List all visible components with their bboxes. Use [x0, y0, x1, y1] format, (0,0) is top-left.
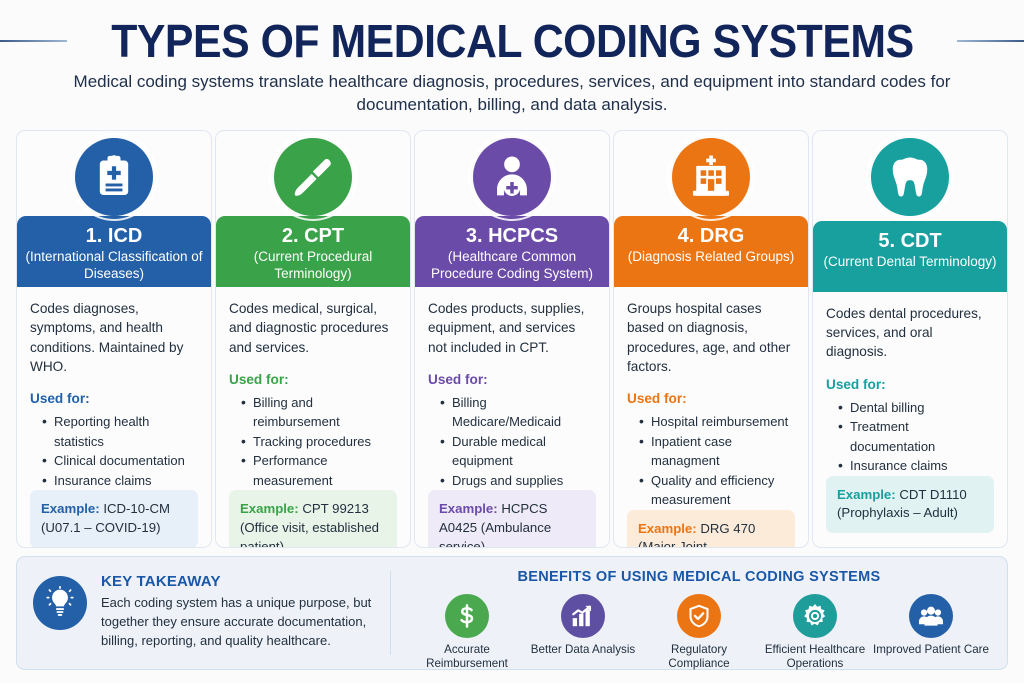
dollar-icon	[445, 594, 489, 638]
list-item: Drugs and supplies	[442, 471, 596, 491]
benefit-label: Accurate Reimbursement	[409, 643, 525, 672]
benefit-label: Efficient Healthcare Operations	[757, 643, 873, 672]
example-label: Example:	[638, 521, 700, 536]
card-body: Codes medical, surgical, and diagnostic …	[216, 287, 410, 548]
list-item: Durable medical equipment	[442, 432, 596, 471]
card-title: 4. DRG	[620, 225, 802, 248]
header-section: TYPES OF MEDICAL CODING SYSTEMS Medical …	[0, 0, 1024, 118]
card-header: 4. DRG (Diagnosis Related Groups)	[614, 216, 808, 287]
card-title: 3. HCPCS	[421, 225, 603, 248]
lightbulb-icon	[33, 576, 87, 630]
coding-system-card: 1. ICD (International Classification of …	[16, 130, 212, 548]
card-subtitle: (Healthcare Common Procedure Coding Syst…	[421, 249, 603, 282]
list-item: Treatment documentation	[840, 417, 994, 456]
used-for-label: Used for:	[627, 391, 795, 406]
card-header: 3. HCPCS (Healthcare Common Procedure Co…	[415, 216, 609, 287]
example-label: Example:	[41, 501, 103, 516]
benefit-item: Accurate Reimbursement	[409, 594, 525, 672]
title-decoration-left	[0, 37, 67, 46]
card-title: 2. CPT	[222, 225, 404, 248]
card-body: Groups hospital cases based on diagnosis…	[614, 287, 808, 548]
benefit-label: Better Data Analysis	[525, 643, 641, 657]
hospital-icon	[672, 138, 750, 216]
card-description: Codes medical, surgical, and diagnostic …	[229, 299, 397, 357]
title-decoration-right	[957, 37, 1024, 46]
benefit-item: Better Data Analysis	[525, 594, 641, 672]
bar-chart-icon	[561, 594, 605, 638]
example-box: Example: CPT 99213 (Office visit, establ…	[229, 490, 397, 548]
card-icon-area	[216, 131, 410, 216]
benefit-label: Regulatory Compliance	[641, 643, 757, 672]
card-subtitle: (Current Procedural Terminology)	[222, 249, 404, 282]
shield-check-icon	[677, 594, 721, 638]
card-subtitle: (International Classification of Disease…	[23, 249, 205, 282]
card-title: 1. ICD	[23, 225, 205, 248]
list-item: Quality and efficiency measurement	[641, 471, 795, 510]
card-description: Groups hospital cases based on diagnosis…	[627, 299, 795, 376]
card-header: 5. CDT (Current Dental Terminology)	[813, 221, 1007, 292]
coding-system-card: 4. DRG (Diagnosis Related Groups) Groups…	[613, 130, 809, 548]
key-takeaway-title: KEY TAKEAWAY	[101, 573, 378, 590]
used-for-list: Reporting health statisticsClinical docu…	[30, 412, 198, 490]
decoration-line-left	[0, 40, 67, 42]
example-box: Example: CDT D1110 (Prophylaxis – Adult)	[826, 476, 994, 533]
list-item: Billing Medicare/Medicaid	[442, 393, 596, 432]
coding-system-card: 3. HCPCS (Healthcare Common Procedure Co…	[414, 130, 610, 548]
benefit-item: Improved Patient Care	[873, 594, 989, 672]
card-icon-area	[415, 131, 609, 216]
list-item: Performance measurement	[243, 451, 397, 490]
patient-plus-icon	[473, 138, 551, 216]
decoration-line-right	[957, 40, 1024, 42]
list-item: Clinical documentation	[44, 451, 198, 471]
benefits-title: BENEFITS OF USING MEDICAL CODING SYSTEMS	[391, 569, 1007, 585]
example-label: Example:	[240, 501, 302, 516]
gear-icon	[793, 594, 837, 638]
list-item: Inpatient case managment	[641, 432, 795, 471]
used-for-label: Used for:	[826, 377, 994, 392]
card-icon-area	[614, 131, 808, 216]
card-body: Codes products, supplies, equipment, and…	[415, 287, 609, 548]
used-for-label: Used for:	[229, 372, 397, 387]
used-for-label: Used for:	[428, 372, 596, 387]
example-box: Example: HCPCS A0425 (Ambulance service)	[428, 490, 596, 548]
benefit-item: Efficient Healthcare Operations	[757, 594, 873, 672]
example-label: Example:	[439, 501, 501, 516]
example-box: Example: DRG 470 (Major Joint Replacemen…	[627, 510, 795, 548]
clipboard-medical-icon	[75, 138, 153, 216]
benefit-item: Regulatory Compliance	[641, 594, 757, 672]
card-description: Codes diagnoses, symptoms, and health co…	[30, 299, 198, 376]
benefit-label: Improved Patient Care	[873, 643, 989, 657]
list-item: Dental billing	[840, 398, 994, 418]
page-title: TYPES OF MEDICAL CODING SYSTEMS	[111, 14, 913, 68]
card-subtitle: (Current Dental Terminology)	[819, 254, 1001, 271]
used-for-list: Billing and reimbursementTracking proced…	[229, 393, 397, 491]
card-icon-area	[17, 131, 211, 216]
list-item: Insurance claims	[44, 471, 198, 491]
list-item: Insurance claims	[840, 456, 994, 476]
used-for-label: Used for:	[30, 391, 198, 406]
card-description: Codes dental procedures, services, and o…	[826, 304, 994, 362]
key-takeaway-block: KEY TAKEAWAY Each coding system has a un…	[17, 557, 390, 669]
card-body: Codes dental procedures, services, and o…	[813, 292, 1007, 547]
title-row: TYPES OF MEDICAL CODING SYSTEMS	[0, 14, 1024, 68]
list-item: Hospital reimbursement	[641, 412, 795, 432]
card-header: 2. CPT (Current Procedural Terminology)	[216, 216, 410, 287]
coding-systems-row: 1. ICD (International Classification of …	[16, 130, 1008, 548]
key-takeaway-text-block: KEY TAKEAWAY Each coding system has a un…	[101, 573, 378, 651]
list-item: Billing and reimbursement	[243, 393, 397, 432]
bottom-panel: KEY TAKEAWAY Each coding system has a un…	[16, 556, 1008, 670]
used-for-list: Billing Medicare/MedicaidDurable medical…	[428, 393, 596, 491]
key-takeaway-body: Each coding system has a unique purpose,…	[101, 593, 378, 651]
benefits-row: Accurate Reimbursement Better Data Analy…	[391, 594, 1007, 672]
coding-system-card: 2. CPT (Current Procedural Terminology) …	[215, 130, 411, 548]
card-body: Codes diagnoses, symptoms, and health co…	[17, 287, 211, 548]
example-label: Example:	[837, 487, 899, 502]
scalpel-icon	[274, 138, 352, 216]
example-box: Example: ICD-10-CM (U07.1 – COVID-19)	[30, 490, 198, 547]
tooth-icon	[871, 138, 949, 216]
list-item: Reporting health statistics	[44, 412, 198, 451]
card-description: Codes products, supplies, equipment, and…	[428, 299, 596, 357]
used-for-list: Hospital reimbursementInpatient case man…	[627, 412, 795, 510]
card-header: 1. ICD (International Classification of …	[17, 216, 211, 287]
coding-system-card: 5. CDT (Current Dental Terminology) Code…	[812, 130, 1008, 548]
card-icon-area	[813, 131, 1007, 221]
list-item: Tracking procedures	[243, 432, 397, 452]
benefits-block: BENEFITS OF USING MEDICAL CODING SYSTEMS…	[391, 557, 1007, 669]
people-icon	[909, 594, 953, 638]
card-subtitle: (Diagnosis Related Groups)	[620, 249, 802, 266]
used-for-list: Dental billingTreatment documentationIns…	[826, 398, 994, 476]
card-title: 5. CDT	[819, 230, 1001, 253]
page-subtitle: Medical coding systems translate healthc…	[72, 70, 952, 117]
